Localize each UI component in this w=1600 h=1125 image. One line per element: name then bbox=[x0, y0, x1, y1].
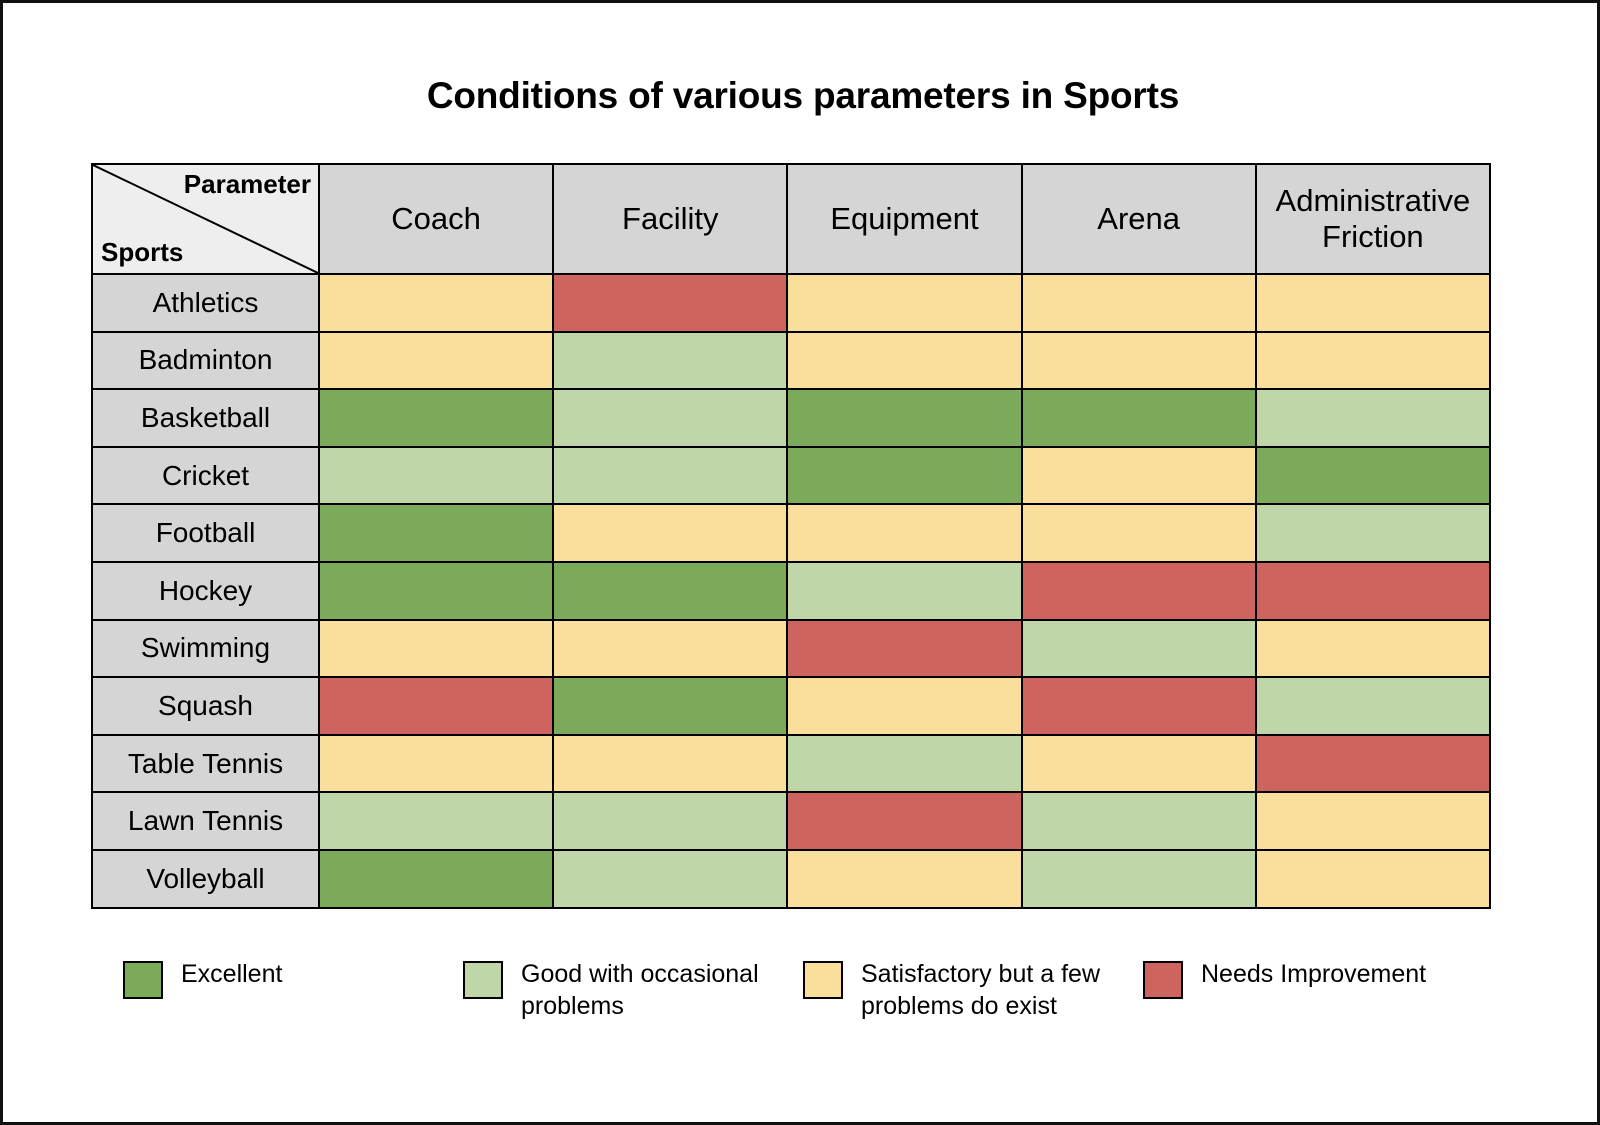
cell-cricket-equipment bbox=[787, 447, 1021, 505]
column-header-facility: Facility bbox=[553, 164, 787, 274]
table-row: Cricket bbox=[92, 447, 1490, 505]
table-header: Parameter Sports Coach Facility Equipmen… bbox=[92, 164, 1490, 274]
legend-label-needs-improvement: Needs Improvement bbox=[1201, 958, 1426, 990]
row-axis-label: Sports bbox=[101, 238, 183, 267]
row-header-football: Football bbox=[92, 504, 319, 562]
cell-squash-arena bbox=[1022, 677, 1256, 735]
cell-table-tennis-administrative-friction bbox=[1256, 735, 1490, 793]
cell-athletics-administrative-friction bbox=[1256, 274, 1490, 332]
column-header-administrative-friction: Administrative Friction bbox=[1256, 164, 1490, 274]
row-header-hockey: Hockey bbox=[92, 562, 319, 620]
table-row: Swimming bbox=[92, 620, 1490, 678]
table-header-row: Parameter Sports Coach Facility Equipmen… bbox=[92, 164, 1490, 274]
cell-squash-equipment bbox=[787, 677, 1021, 735]
table-row: Squash bbox=[92, 677, 1490, 735]
legend: ExcellentGood with occasional problemsSa… bbox=[123, 958, 1523, 1022]
cell-lawn-tennis-coach bbox=[319, 792, 553, 850]
row-header-basketball: Basketball bbox=[92, 389, 319, 447]
cell-hockey-administrative-friction bbox=[1256, 562, 1490, 620]
cell-badminton-equipment bbox=[787, 332, 1021, 390]
cell-basketball-facility bbox=[553, 389, 787, 447]
legend-item-good: Good with occasional problems bbox=[463, 958, 803, 1022]
table-row: Badminton bbox=[92, 332, 1490, 390]
cell-football-arena bbox=[1022, 504, 1256, 562]
cell-table-tennis-equipment bbox=[787, 735, 1021, 793]
cell-table-tennis-facility bbox=[553, 735, 787, 793]
legend-item-needs-improvement: Needs Improvement bbox=[1143, 958, 1483, 999]
row-header-badminton: Badminton bbox=[92, 332, 319, 390]
row-header-volleyball: Volleyball bbox=[92, 850, 319, 908]
cell-badminton-coach bbox=[319, 332, 553, 390]
table-body: AthleticsBadmintonBasketballCricketFootb… bbox=[92, 274, 1490, 908]
table-row: Athletics bbox=[92, 274, 1490, 332]
cell-table-tennis-arena bbox=[1022, 735, 1256, 793]
cell-athletics-arena bbox=[1022, 274, 1256, 332]
cell-lawn-tennis-equipment bbox=[787, 792, 1021, 850]
table-row: Basketball bbox=[92, 389, 1490, 447]
cell-badminton-facility bbox=[553, 332, 787, 390]
legend-swatch-needs-improvement bbox=[1143, 961, 1183, 999]
cell-cricket-facility bbox=[553, 447, 787, 505]
cell-cricket-coach bbox=[319, 447, 553, 505]
legend-item-excellent: Excellent bbox=[123, 958, 463, 999]
legend-swatch-excellent bbox=[123, 961, 163, 999]
cell-football-facility bbox=[553, 504, 787, 562]
cell-swimming-facility bbox=[553, 620, 787, 678]
cell-squash-administrative-friction bbox=[1256, 677, 1490, 735]
cell-volleyball-equipment bbox=[787, 850, 1021, 908]
cell-swimming-administrative-friction bbox=[1256, 620, 1490, 678]
cell-swimming-arena bbox=[1022, 620, 1256, 678]
cell-badminton-administrative-friction bbox=[1256, 332, 1490, 390]
legend-label-good: Good with occasional problems bbox=[521, 958, 803, 1022]
cell-swimming-coach bbox=[319, 620, 553, 678]
column-header-coach: Coach bbox=[319, 164, 553, 274]
cell-basketball-equipment bbox=[787, 389, 1021, 447]
table-row: Hockey bbox=[92, 562, 1490, 620]
page-root: Conditions of various parameters in Spor… bbox=[0, 0, 1600, 1125]
cell-athletics-equipment bbox=[787, 274, 1021, 332]
cell-volleyball-facility bbox=[553, 850, 787, 908]
cell-football-administrative-friction bbox=[1256, 504, 1490, 562]
cell-hockey-equipment bbox=[787, 562, 1021, 620]
cell-swimming-equipment bbox=[787, 620, 1021, 678]
cell-badminton-arena bbox=[1022, 332, 1256, 390]
table-row: Volleyball bbox=[92, 850, 1490, 908]
cell-hockey-coach bbox=[319, 562, 553, 620]
row-header-cricket: Cricket bbox=[92, 447, 319, 505]
cell-football-equipment bbox=[787, 504, 1021, 562]
legend-swatch-good bbox=[463, 961, 503, 999]
cell-basketball-arena bbox=[1022, 389, 1256, 447]
cell-cricket-administrative-friction bbox=[1256, 447, 1490, 505]
table-row: Football bbox=[92, 504, 1490, 562]
legend-label-satisfactory: Satisfactory but a few problems do exist bbox=[861, 958, 1143, 1022]
cell-squash-facility bbox=[553, 677, 787, 735]
legend-label-excellent: Excellent bbox=[181, 958, 282, 990]
cell-basketball-coach bbox=[319, 389, 553, 447]
cell-football-coach bbox=[319, 504, 553, 562]
row-header-squash: Squash bbox=[92, 677, 319, 735]
cell-volleyball-administrative-friction bbox=[1256, 850, 1490, 908]
column-axis-label: Parameter bbox=[184, 170, 311, 199]
cell-cricket-arena bbox=[1022, 447, 1256, 505]
legend-swatch-satisfactory bbox=[803, 961, 843, 999]
page-title: Conditions of various parameters in Spor… bbox=[3, 75, 1600, 117]
row-header-swimming: Swimming bbox=[92, 620, 319, 678]
corner-axis-cell: Parameter Sports bbox=[92, 164, 319, 274]
cell-lawn-tennis-administrative-friction bbox=[1256, 792, 1490, 850]
row-header-table-tennis: Table Tennis bbox=[92, 735, 319, 793]
cell-table-tennis-coach bbox=[319, 735, 553, 793]
row-header-athletics: Athletics bbox=[92, 274, 319, 332]
row-header-lawn-tennis: Lawn Tennis bbox=[92, 792, 319, 850]
cell-squash-coach bbox=[319, 677, 553, 735]
table-row: Table Tennis bbox=[92, 735, 1490, 793]
cell-athletics-coach bbox=[319, 274, 553, 332]
conditions-matrix-table: Parameter Sports Coach Facility Equipmen… bbox=[91, 163, 1491, 909]
cell-lawn-tennis-facility bbox=[553, 792, 787, 850]
cell-hockey-facility bbox=[553, 562, 787, 620]
column-header-arena: Arena bbox=[1022, 164, 1256, 274]
cell-athletics-facility bbox=[553, 274, 787, 332]
cell-volleyball-coach bbox=[319, 850, 553, 908]
table-row: Lawn Tennis bbox=[92, 792, 1490, 850]
cell-volleyball-arena bbox=[1022, 850, 1256, 908]
cell-basketball-administrative-friction bbox=[1256, 389, 1490, 447]
cell-hockey-arena bbox=[1022, 562, 1256, 620]
cell-lawn-tennis-arena bbox=[1022, 792, 1256, 850]
legend-item-satisfactory: Satisfactory but a few problems do exist bbox=[803, 958, 1143, 1022]
column-header-equipment: Equipment bbox=[787, 164, 1021, 274]
